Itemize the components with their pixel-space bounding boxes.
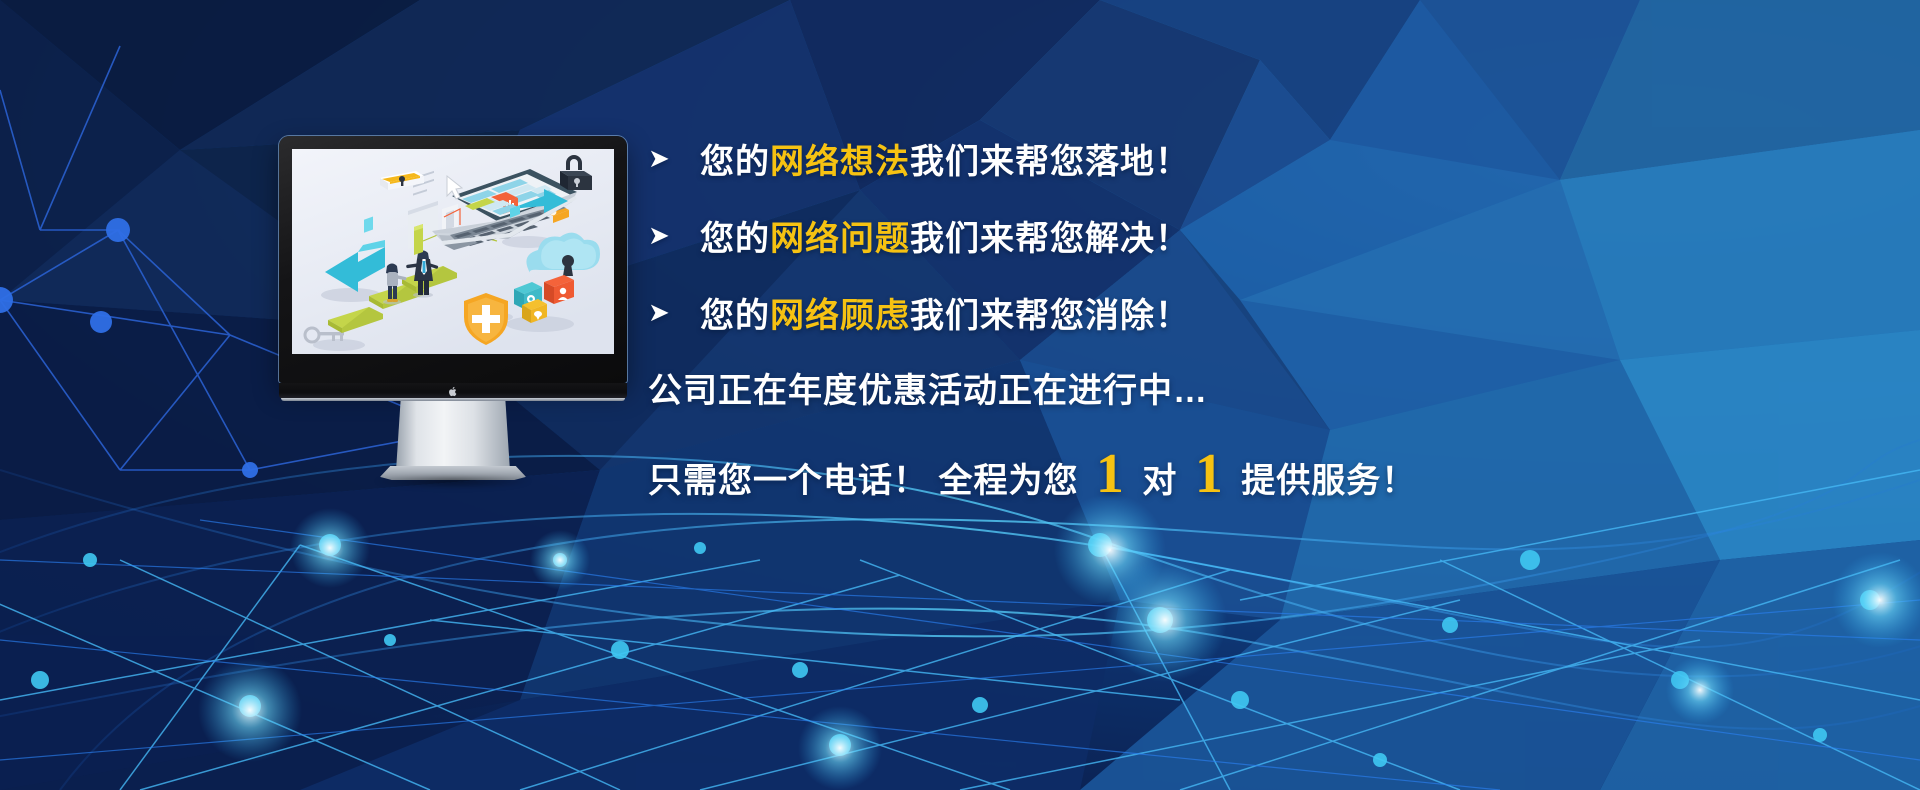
monitor-stand-neck [396,401,510,471]
monitor-bezel [279,136,627,383]
bullet-2-post: 我们来帮您解决！ [910,220,1190,258]
bullet-text-3: 您的网络顾虑我们来帮您消除！ [700,288,1190,337]
bullet-line-3: ➤ 您的网络顾虑我们来帮您消除！ [648,282,1848,342]
bullet-2-highlight: 网络问题 [770,220,910,258]
monitor-chin [279,383,627,399]
monitor-drop-shadow [375,476,531,489]
bullet-1-highlight: 网络想法 [770,143,910,181]
marketing-copy-block: ➤ 您的网络想法我们来帮您落地！ ➤ 您的网络问题我们来帮您解决！ ➤ 您的网络… [648,128,1848,502]
bullet-text-2: 您的网络问题我们来帮您解决！ [700,211,1190,260]
promo-headline: 公司正在年度优惠活动正在进行中… [648,363,1848,412]
bullet-text-1: 您的网络想法我们来帮您落地！ [700,134,1190,183]
arrow-bullet-icon: ➤ [648,299,700,325]
monitor-base-edge [281,398,625,401]
bullet-1-pre: 您的 [700,143,770,181]
cta-segment-1: 只需您一个电话！ 全程为您 [648,453,1089,502]
bullet-3-post: 我们来帮您消除！ [910,297,1190,335]
arrow-bullet-icon: ➤ [648,222,700,248]
bullet-1-post: 我们来帮您落地！ [910,143,1190,181]
monitor-screen [292,149,614,354]
monitor-illustration [279,136,627,446]
call-to-action-line: 只需您一个电话！ 全程为您 1 对 1 提供服务！ [648,446,1848,502]
cta-segment-2: 对 [1132,453,1188,502]
cta-segment-3: 提供服务！ [1231,453,1416,502]
cta-number-one-first: 1 [1089,446,1132,502]
hero-banner: ➤ 您的网络想法我们来帮您落地！ ➤ 您的网络问题我们来帮您解决！ ➤ 您的网络… [0,0,1920,790]
bullet-3-pre: 您的 [700,297,770,335]
bullet-line-1: ➤ 您的网络想法我们来帮您落地！ [648,128,1848,188]
cta-number-one-second: 1 [1188,446,1231,502]
apple-logo-icon [449,386,458,397]
bullet-2-pre: 您的 [700,220,770,258]
bullet-line-2: ➤ 您的网络问题我们来帮您解决！ [648,205,1848,265]
arrow-bullet-icon: ➤ [648,145,700,171]
bullet-3-highlight: 网络顾虑 [770,297,910,335]
